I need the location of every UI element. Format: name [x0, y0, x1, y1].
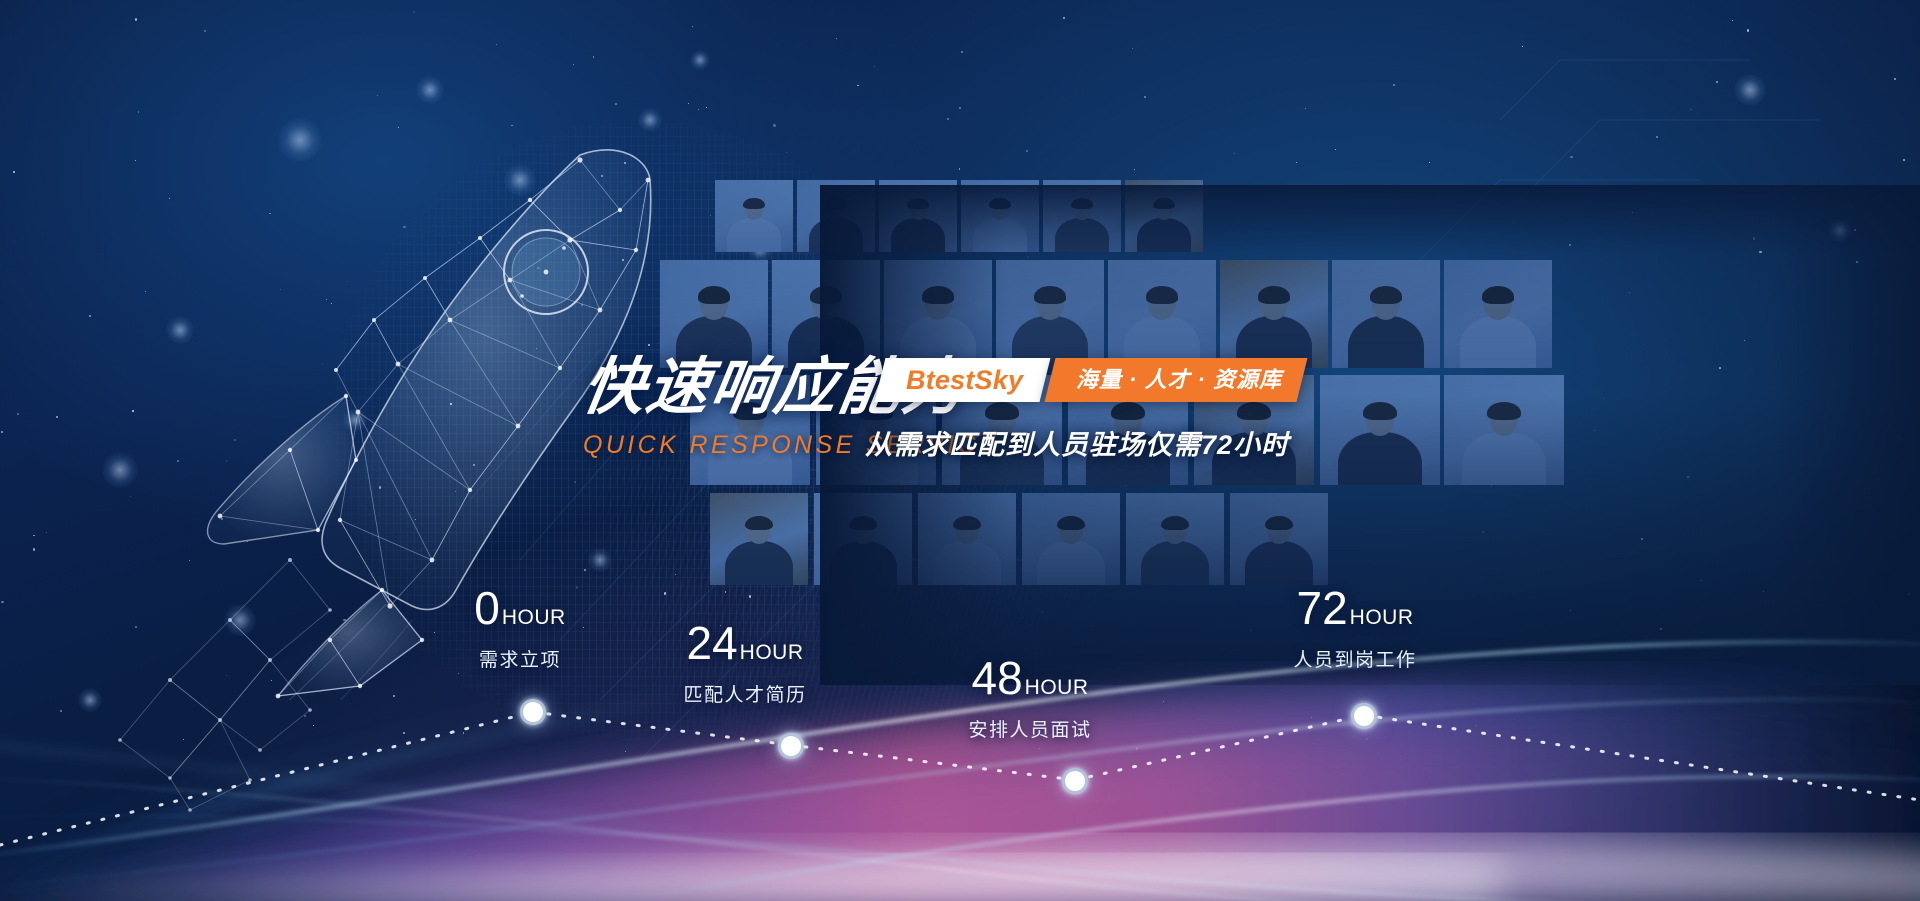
brand-badge: BtestSky 海量 · 人才 · 资源库	[880, 358, 1302, 402]
glow-particle	[1734, 74, 1766, 106]
tile-blue-overlay	[961, 180, 1039, 252]
star-dot	[615, 103, 617, 105]
talent-photo-tile	[772, 260, 880, 368]
tile-blue-overlay	[660, 260, 768, 368]
star-dot	[1366, 738, 1368, 740]
star-dot	[1747, 29, 1749, 31]
star-dot	[1903, 159, 1905, 161]
glow-particle	[102, 452, 138, 488]
star-dot	[786, 152, 788, 154]
milestone-3-unit: HOUR	[1350, 606, 1414, 629]
tile-blue-overlay	[1043, 180, 1121, 252]
talent-photo-tile	[884, 260, 992, 368]
star-dot	[1656, 136, 1658, 138]
milestone-2[interactable]: 48HOUR 安排人员面试	[915, 655, 1145, 742]
star-dot	[1311, 717, 1312, 718]
brand-name-chip: BtestSky	[875, 358, 1051, 402]
glow-particle	[416, 76, 444, 104]
star-dot	[1732, 20, 1733, 21]
talent-photo-tile	[1022, 493, 1120, 585]
milestone-1-value: 24	[686, 617, 737, 669]
star-dot	[56, 416, 58, 418]
star-dot	[413, 11, 415, 13]
tile-blue-overlay	[996, 260, 1104, 368]
milestone-2-dot[interactable]	[1062, 768, 1088, 794]
star-dot	[874, 66, 875, 67]
star-dot	[959, 107, 961, 109]
star-dot	[1296, 162, 1297, 163]
star-dot	[625, 751, 626, 752]
tile-blue-overlay	[797, 180, 875, 252]
rocket-exhaust-particles	[40, 540, 460, 870]
star-dot	[1, 431, 3, 433]
star-dot	[1, 601, 3, 603]
star-dot	[1522, 46, 1523, 47]
talent-photo-tile	[1320, 375, 1440, 485]
talent-photo-tile	[996, 260, 1104, 368]
tile-blue-overlay	[772, 260, 880, 368]
star-dot	[1305, 108, 1307, 110]
talent-photo-tile	[1126, 493, 1224, 585]
milestone-3-value: 72	[1296, 582, 1347, 634]
tile-blue-overlay	[1444, 375, 1564, 485]
milestone-1-label: 匹配人才简历	[630, 680, 860, 707]
star-dot	[959, 168, 960, 169]
talent-photo-tile	[660, 260, 768, 368]
milestone-1-dot[interactable]	[778, 733, 804, 759]
milestone-2-value-row: 48HOUR	[915, 655, 1145, 701]
star-dot	[836, 38, 837, 39]
talent-photo-tile	[1043, 180, 1121, 252]
star-dot	[204, 30, 206, 32]
talent-photo-tile	[961, 180, 1039, 252]
milestone-3-label: 人员到岗工作	[1230, 645, 1480, 672]
talent-photo-tile	[1108, 260, 1216, 368]
star-dot	[1335, 149, 1336, 150]
milestone-3[interactable]: 72HOUR 人员到岗工作	[1230, 585, 1480, 672]
star-dot	[961, 51, 963, 53]
star-dot	[706, 107, 707, 108]
talent-photo-tile	[1230, 493, 1328, 585]
tile-blue-overlay	[918, 493, 1016, 585]
star-dot	[1134, 169, 1135, 170]
star-dot	[1132, 48, 1133, 49]
tile-blue-overlay	[1126, 493, 1224, 585]
star-dot	[1039, 748, 1040, 749]
milestone-0-value-row: 0HOUR	[420, 585, 620, 631]
banner-stage: 快速响应能力 QUICK RESPONSE SERVICE BtestSky 海…	[0, 0, 1920, 901]
headline-subtitle-cn: 从需求匹配到人员驻场仅需72小时	[865, 423, 1289, 462]
star-dot	[33, 535, 34, 536]
star-dot	[377, 95, 378, 96]
star-dot	[1063, 17, 1064, 18]
star-dot	[1136, 747, 1138, 749]
talent-photo-tile	[1332, 260, 1440, 368]
star-dot	[13, 171, 15, 173]
star-dot	[1234, 153, 1235, 154]
brand-name-text: BtestSky	[906, 358, 1023, 402]
star-dot	[1026, 150, 1028, 152]
talent-photo-tile	[797, 180, 875, 252]
milestone-1[interactable]: 24HOUR 匹配人才简历	[630, 620, 860, 707]
star-dot	[135, 160, 136, 161]
star-dot	[1894, 78, 1896, 80]
tile-blue-overlay	[1332, 260, 1440, 368]
tile-blue-overlay	[814, 493, 912, 585]
talent-photo-tile	[710, 493, 808, 585]
brand-tagline-chip: 海量 · 人才 · 资源库	[1045, 358, 1308, 402]
star-dot	[130, 496, 131, 497]
talent-photo-tile	[1444, 375, 1564, 485]
star-dot	[593, 56, 594, 57]
milestone-1-value-row: 24HOUR	[630, 620, 860, 666]
milestone-0-unit: HOUR	[502, 606, 566, 629]
star-dot	[135, 18, 137, 20]
star-dot	[1144, 96, 1146, 98]
milestone-1-unit: HOUR	[740, 641, 804, 664]
talent-photo-tile	[715, 180, 793, 252]
milestone-3-dot[interactable]	[1351, 703, 1377, 729]
star-dot	[496, 44, 497, 45]
milestone-0-value: 0	[474, 582, 500, 634]
milestone-0-label: 需求立项	[420, 645, 620, 672]
star-dot	[573, 64, 574, 65]
star-dot	[463, 732, 465, 734]
talent-photo-tile	[918, 493, 1016, 585]
milestone-2-label: 安排人员面试	[915, 715, 1145, 742]
star-dot	[1475, 725, 1477, 727]
talent-photo-tile	[879, 180, 957, 252]
star-dot	[1429, 162, 1430, 163]
milestone-0-dot[interactable]	[520, 699, 546, 725]
tile-blue-overlay	[710, 493, 808, 585]
star-dot	[25, 441, 26, 442]
talent-photo-tile	[814, 493, 912, 585]
star-dot	[138, 111, 140, 113]
tile-blue-overlay	[884, 260, 992, 368]
star-dot	[89, 315, 91, 317]
milestone-2-value: 48	[971, 652, 1022, 704]
star-dot	[1163, 701, 1164, 702]
star-dot	[132, 410, 134, 412]
tile-blue-overlay	[715, 180, 793, 252]
talent-photo-tile	[1125, 180, 1203, 252]
star-dot	[46, 532, 47, 533]
glow-particle	[690, 50, 710, 70]
star-dot	[145, 291, 146, 292]
star-dot	[1393, 84, 1395, 86]
star-dot	[698, 109, 699, 110]
tile-blue-overlay	[1220, 260, 1328, 368]
star-dot	[33, 548, 35, 550]
tile-blue-overlay	[1230, 493, 1328, 585]
tile-blue-overlay	[879, 180, 957, 252]
star-dot	[1570, 156, 1572, 158]
tile-blue-overlay	[1022, 493, 1120, 585]
tile-blue-overlay	[1125, 180, 1203, 252]
star-dot	[692, 26, 693, 27]
tile-blue-overlay	[1320, 375, 1440, 485]
star-dot	[947, 118, 949, 120]
star-dot	[688, 103, 689, 104]
star-dot	[1690, 109, 1692, 111]
tile-blue-overlay	[1444, 260, 1552, 368]
talent-photo-tile	[1220, 260, 1328, 368]
star-dot	[1716, 81, 1717, 82]
star-dot	[17, 413, 19, 415]
talent-photo-tile	[1444, 260, 1552, 368]
milestone-0[interactable]: 0HOUR 需求立项	[420, 585, 620, 672]
milestone-3-value-row: 72HOUR	[1230, 585, 1480, 631]
tile-blue-overlay	[1108, 260, 1216, 368]
milestone-2-unit: HOUR	[1025, 676, 1089, 699]
brand-tagline-text: 海量 · 人才 · 资源库	[1076, 358, 1282, 402]
star-dot	[857, 85, 858, 86]
star-dot	[773, 124, 775, 126]
